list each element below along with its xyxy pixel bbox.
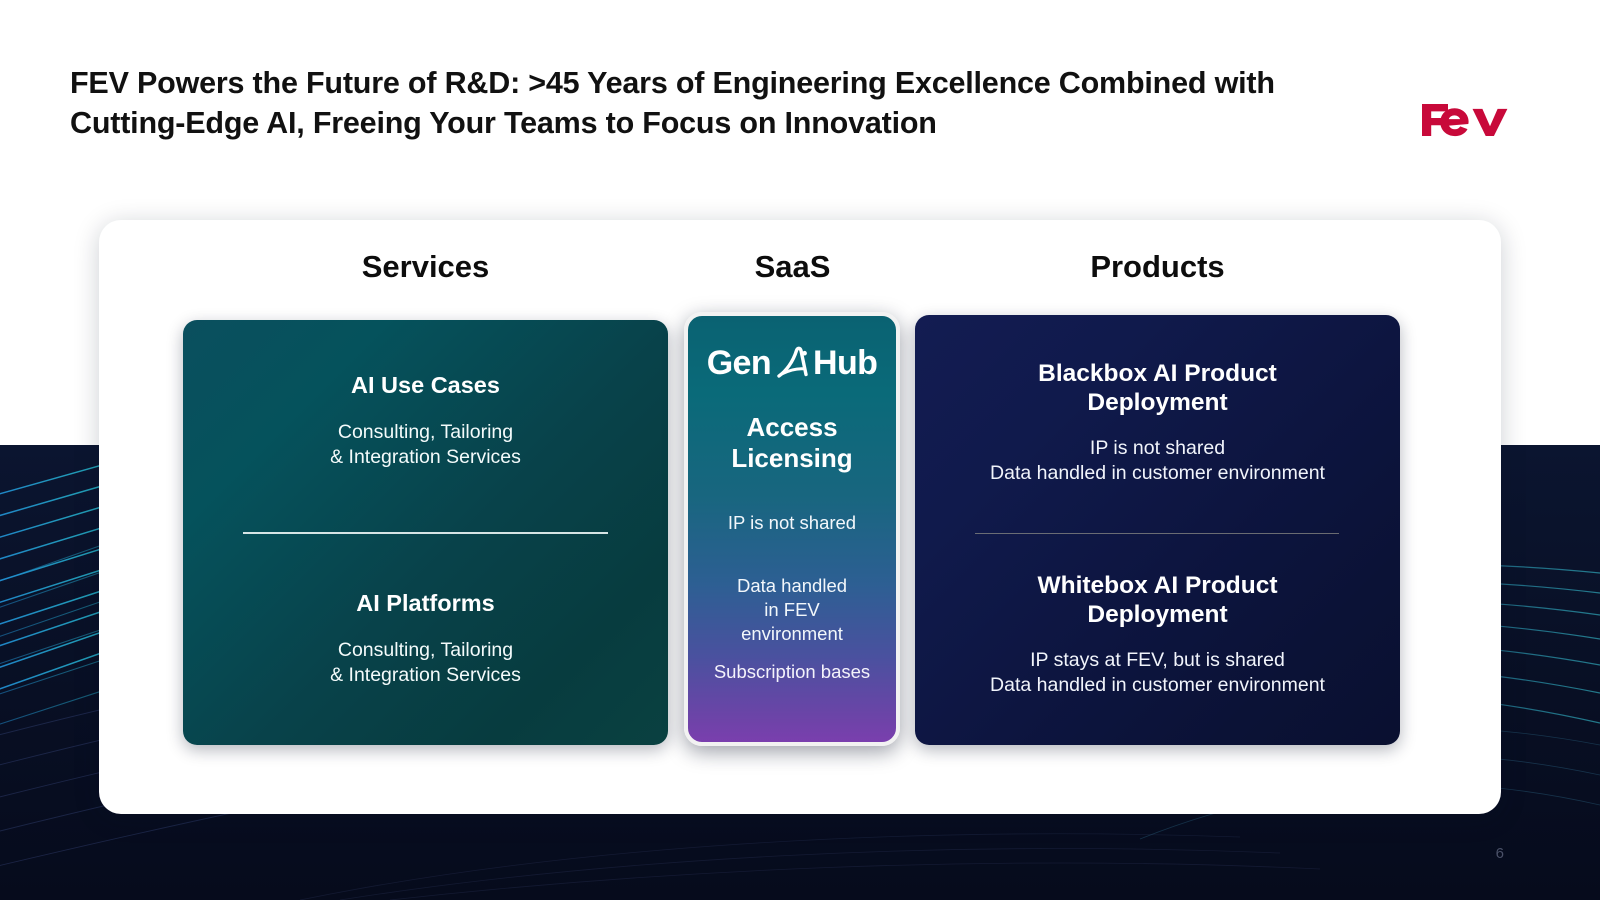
- products-card-divider: [975, 533, 1339, 534]
- saas-note-data-line-3: environment: [688, 622, 896, 646]
- saas-title-line-2: Licensing: [688, 443, 896, 474]
- products-block-title: Whitebox AI Product Deployment: [915, 572, 1400, 630]
- products-block-whitebox: Whitebox AI Product Deployment IP stays …: [915, 572, 1400, 699]
- card-saas[interactable]: Gen Hub Access Licensing IP is not share…: [684, 312, 900, 746]
- fev-logo-icon: [1420, 98, 1522, 142]
- services-block-subtitle: Consulting, Tailoring & Integration Serv…: [183, 420, 668, 471]
- products-block-title: Blackbox AI Product Deployment: [915, 360, 1400, 418]
- saas-note-data: Data handled in FEV environment: [688, 574, 896, 646]
- saas-note-data-line-2: in FEV: [688, 598, 896, 622]
- page-number: 6: [1496, 845, 1504, 862]
- genaihub-logo-part1: Gen: [707, 344, 771, 383]
- fev-logo: [1420, 98, 1522, 142]
- genaihub-logo-part2: Hub: [813, 344, 877, 383]
- genai-a-swoosh-icon: [772, 343, 812, 383]
- products-title-line-2: Deployment: [915, 601, 1400, 630]
- products-subtitle-line-1: IP stays at FEV, but is shared: [915, 648, 1400, 673]
- slide-root: FEV Powers the Future of R&D: >45 Years …: [0, 0, 1600, 900]
- products-block-subtitle: IP is not shared Data handled in custome…: [915, 436, 1400, 487]
- products-subtitle-line-2: Data handled in customer environment: [915, 673, 1400, 698]
- services-card-divider: [243, 532, 608, 534]
- services-subtitle-line-1: Consulting, Tailoring: [183, 638, 668, 663]
- saas-note-ip: IP is not shared: [688, 512, 896, 534]
- products-title-line-1: Whitebox AI Product: [915, 572, 1400, 601]
- column-heading-products: Products: [915, 249, 1400, 285]
- services-subtitle-line-1: Consulting, Tailoring: [183, 420, 668, 445]
- saas-card-title: Access Licensing: [688, 412, 896, 473]
- services-block-subtitle: Consulting, Tailoring & Integration Serv…: [183, 638, 668, 689]
- products-subtitle-line-1: IP is not shared: [915, 436, 1400, 461]
- services-subtitle-line-2: & Integration Services: [183, 445, 668, 470]
- services-block-title: AI Platforms: [183, 590, 668, 618]
- services-block-ai-platforms: AI Platforms Consulting, Tailoring & Int…: [183, 590, 668, 688]
- products-title-line-1: Blackbox AI Product: [915, 360, 1400, 389]
- card-services[interactable]: AI Use Cases Consulting, Tailoring & Int…: [183, 320, 668, 745]
- saas-title-line-1: Access: [688, 412, 896, 443]
- products-title-line-2: Deployment: [915, 389, 1400, 418]
- page-title: FEV Powers the Future of R&D: >45 Years …: [70, 64, 1360, 143]
- services-block-ai-use-cases: AI Use Cases Consulting, Tailoring & Int…: [183, 372, 668, 470]
- saas-note-subscription: Subscription bases: [688, 661, 896, 683]
- column-heading-services: Services: [183, 249, 668, 285]
- genaihub-logo-text: Gen Hub: [707, 343, 878, 383]
- saas-note-data-line-1: Data handled: [688, 574, 896, 598]
- card-products[interactable]: Blackbox AI Product Deployment IP is not…: [915, 315, 1400, 745]
- products-block-blackbox: Blackbox AI Product Deployment IP is not…: [915, 360, 1400, 487]
- genai-a-swoosh-svg: [772, 343, 812, 383]
- products-block-subtitle: IP stays at FEV, but is shared Data hand…: [915, 648, 1400, 699]
- services-subtitle-line-2: & Integration Services: [183, 663, 668, 688]
- products-subtitle-line-2: Data handled in customer environment: [915, 461, 1400, 486]
- services-block-title: AI Use Cases: [183, 372, 668, 400]
- column-heading-saas: SaaS: [685, 249, 900, 285]
- genaihub-logo: Gen Hub: [688, 340, 896, 386]
